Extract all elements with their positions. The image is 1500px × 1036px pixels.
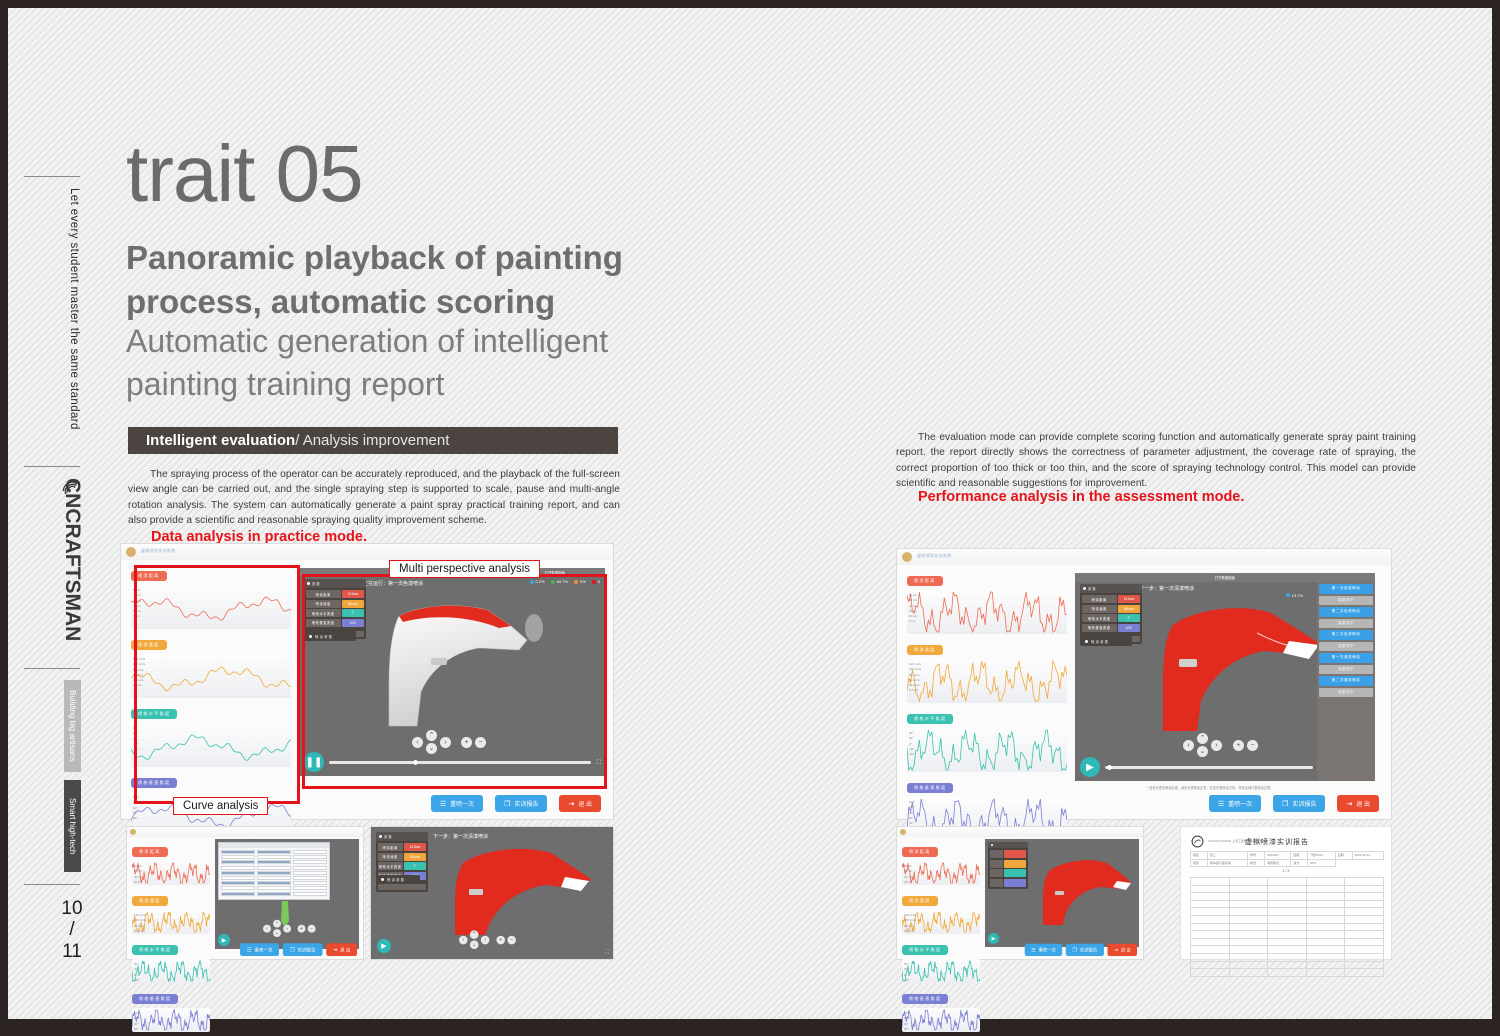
curve-y-tick: 40 cm xyxy=(904,869,912,874)
curve-plot: 60°30°0°-30°-60° xyxy=(132,959,210,983)
fender-coverage-model[interactable] xyxy=(433,841,605,937)
table-row xyxy=(1191,931,1384,939)
curve-block: 喷涂距离 50 cm40 cm30 cm20 cm10 cm0 cm xyxy=(907,569,1067,634)
nav-right-button[interactable]: › xyxy=(481,935,490,944)
curve-y-tick: 80 cm/s xyxy=(909,673,921,678)
parameter-row: 喷涂距离19.8cm xyxy=(378,843,426,851)
parameter-value xyxy=(1004,869,1026,877)
parameter-table-overlay[interactable] xyxy=(218,842,330,900)
table-cell xyxy=(1306,969,1345,977)
table-cell xyxy=(1306,961,1345,969)
footer-blue-button[interactable]: ❐实训报告 xyxy=(1273,795,1325,812)
parameter-key: 喷枪垂直角度 xyxy=(1082,624,1117,632)
table-row xyxy=(1191,878,1384,886)
thumb-titlebar xyxy=(897,827,1143,837)
table-cell: 2021001 xyxy=(1265,852,1291,860)
table-cell xyxy=(1268,969,1307,977)
step-button[interactable]: 涂层闪干 xyxy=(1319,665,1373,675)
nav-right-button[interactable]: › xyxy=(1211,740,1222,751)
sidebar-tagline: Let every student master the same standa… xyxy=(68,188,80,430)
curve-y-tick: 110° xyxy=(909,805,915,810)
footer-button-label: 实训报告 xyxy=(297,946,315,953)
table-cell xyxy=(1229,900,1268,908)
table-cell: 日期 xyxy=(1335,852,1352,860)
sidebar-tag-building: Building big artisans xyxy=(64,680,81,772)
fullscreen-icon[interactable]: ⛶ xyxy=(605,949,609,955)
parameter-key: 喷涂速度 xyxy=(378,853,403,861)
table-row xyxy=(1191,961,1384,969)
viewport-status: 下一步：第一次清漆喷涂 xyxy=(1139,585,1194,592)
sidebar-divider xyxy=(24,668,80,669)
curve-plot: 50 cm40 cm30 cm20 cm10 cm0 cm xyxy=(132,861,210,885)
step-button[interactable]: 涂层闪干 xyxy=(1319,619,1373,629)
table-cell xyxy=(1306,915,1345,923)
parameter-row: 喷枪垂直角度103° xyxy=(1082,624,1140,632)
curve-y-axis: 60°30°0°-30°-60° xyxy=(904,962,910,983)
table-cell xyxy=(1191,893,1230,901)
footer-button-label: 实训报告 xyxy=(1080,947,1097,953)
curve-section-label: 喷涂距离 xyxy=(902,847,938,857)
parameter-key xyxy=(990,879,1003,887)
table-cell: 轿车翼子板喷涂 xyxy=(1207,859,1247,867)
table-cell xyxy=(1268,908,1307,916)
overlay-cell xyxy=(257,871,291,875)
footer-button-label: 重喷一次 xyxy=(254,946,272,953)
table-cell: 班级 xyxy=(1291,852,1308,860)
table-cell xyxy=(1191,961,1230,969)
curve-section-label: 喷枪垂直角度 xyxy=(132,994,178,1004)
report-icon: ❐ xyxy=(1072,947,1077,953)
overlay-cell xyxy=(221,886,255,890)
multi-perspective-highlight xyxy=(302,574,607,789)
overlay-cell xyxy=(221,871,255,875)
overlay-cell xyxy=(221,892,255,896)
table-cell xyxy=(1229,969,1268,977)
page-title: Panoramic playback of painting process, … xyxy=(126,236,706,324)
curve-block: 喷枪垂直角度 120°110°90°60°40° xyxy=(902,987,980,1032)
table-cell xyxy=(1229,885,1268,893)
table-cell: 考核模式 xyxy=(1265,859,1291,867)
table-cell xyxy=(1306,938,1345,946)
footer-button-label: 退 出 xyxy=(1121,947,1131,953)
parameter-panel-title: 参数 xyxy=(384,834,393,839)
parameter-value: 2° xyxy=(404,862,426,870)
table-cell xyxy=(1229,893,1268,901)
table-cell xyxy=(1268,953,1307,961)
report-detail-grid xyxy=(1190,877,1384,977)
parameter-key: 喷涂距离 xyxy=(1082,595,1117,603)
footer-blue-button[interactable]: ☰重喷一次 xyxy=(1209,795,1261,812)
table-row xyxy=(1191,969,1384,977)
curve-block: 喷涂速度 120 cm/s100 cm/s80 cm/s60 cm/s40 cm… xyxy=(907,638,1067,703)
curve-plot: 120 cm/s100 cm/s80 cm/s60 cm/s40 cm/s0 c… xyxy=(907,659,1067,703)
footer-button-bar: ☰重喷一次❐实训报告⇥退 出 xyxy=(1209,795,1379,812)
page-total: 11 xyxy=(52,941,92,962)
table-cell xyxy=(1229,953,1268,961)
exit-icon: ⇥ xyxy=(1114,947,1118,953)
table-cell: 总分 xyxy=(1291,859,1308,867)
thumb-nav-controls[interactable]: ‹ ⌃ ⌄ › + − xyxy=(263,920,316,937)
thumb-status-panel[interactable]: 喷涂参数 xyxy=(376,875,420,884)
spray-status-label: 喷涂参数 xyxy=(1091,639,1109,644)
report-title: 虚拟喷漆实训报告 xyxy=(1245,837,1309,847)
footer-red-button[interactable]: ⇥退 出 xyxy=(1337,795,1379,812)
curve-analysis-column: 喷涂距离 50 cm40 cm30 cm20 cm10 cm0 cm喷涂速度 1… xyxy=(907,569,1067,845)
curve-y-tick: 30 cm xyxy=(904,875,912,880)
table-cell: 汽修2101 xyxy=(1308,852,1335,860)
footer-button-label: 退 出 xyxy=(340,946,350,953)
table-cell xyxy=(1268,961,1307,969)
overlay-cell xyxy=(293,866,327,870)
curve-plot: 50 cm40 cm30 cm20 cm10 cm0 cm xyxy=(907,590,1067,634)
assessment-viewport[interactable]: 打开数据面板 下一步：第一次清漆喷涂 13.7% 参数 喷涂距离19.8cm喷涂… xyxy=(1075,573,1375,781)
table-cell xyxy=(1191,969,1230,977)
overlay-cell xyxy=(293,886,327,890)
table-cell xyxy=(1191,953,1230,961)
overlay-column xyxy=(257,850,291,896)
overlay-column xyxy=(221,850,255,896)
curve-section-label: 喷涂距离 xyxy=(132,847,168,857)
table-cell xyxy=(1345,908,1384,916)
curve-y-axis: 60°30°0°-30°-60° xyxy=(134,962,140,983)
parameter-key xyxy=(990,850,1003,858)
footer-red-button[interactable]: ⇥退 出 xyxy=(1107,944,1137,956)
nav-down-button[interactable]: ⌄ xyxy=(273,929,281,937)
curve-y-tick: 40 cm xyxy=(134,869,142,874)
overlay-cell xyxy=(293,855,327,859)
sidebar-brand: CNCRAFTSMAN xyxy=(60,478,84,641)
table-cell xyxy=(1191,946,1230,954)
parameter-row: 喷枪水平角度2° xyxy=(378,862,426,870)
table-cell: 项目 xyxy=(1191,859,1208,867)
curve-section-label: 喷涂速度 xyxy=(907,645,943,655)
parameter-row xyxy=(990,869,1026,877)
parameter-value: 19.8cm xyxy=(404,843,426,851)
curve-block: 喷枪垂直角度 120°110°90°60°40° xyxy=(132,987,210,1032)
overlay-cell xyxy=(257,892,291,896)
parameter-key: 喷枪水平角度 xyxy=(378,862,403,870)
right-body-text: The evaluation mode can provide complete… xyxy=(896,430,1416,491)
overlay-cell xyxy=(221,866,255,870)
table-cell xyxy=(1191,931,1230,939)
table-row: 姓名张三学号2021001班级汽修2101日期2024-03-12 xyxy=(1191,852,1384,860)
footer-red-button[interactable]: ⇥退 出 xyxy=(326,943,357,956)
footer-red-button[interactable]: ⇥退 出 xyxy=(559,795,601,812)
section-bar-bold: Intelligent evaluation xyxy=(146,432,295,449)
table-row xyxy=(1191,946,1384,954)
table-cell xyxy=(1306,931,1345,939)
parameter-rows: 喷涂距离19.8cm喷涂速度60cm/s喷枪水平角度2°喷枪垂直角度103° xyxy=(1080,593,1142,634)
list-icon: ☰ xyxy=(440,800,446,808)
exit-icon: ⇥ xyxy=(1346,800,1352,808)
assessment-thumb-curves: 喷涂距离 50 cm40 cm30 cm20 cm10 cm0 cm喷涂速度 1… xyxy=(896,826,1144,960)
table-cell xyxy=(1268,946,1307,954)
footer-button-label: 重喷一次 xyxy=(1038,947,1055,953)
overlay-cell xyxy=(221,855,255,859)
viewport-nav-controls[interactable]: ‹ ⌃ ⌄ › + − xyxy=(1183,733,1258,757)
overlay-cell xyxy=(293,871,327,875)
thumb-footer-buttons: ☰重喷一次❐实训报告⇥退 出 xyxy=(1025,944,1137,956)
step-button[interactable]: 第二次色漆喷涂 xyxy=(1319,607,1373,617)
parameter-row: 喷涂距离19.8cm xyxy=(1082,595,1140,603)
curve-block: 喷涂距离 50 cm40 cm30 cm20 cm10 cm0 cm xyxy=(902,840,980,885)
curve-y-axis: 50 cm40 cm30 cm20 cm10 cm0 cm xyxy=(909,593,917,625)
curve-y-tick: 100 cm/s xyxy=(134,918,146,923)
sidebar-divider xyxy=(24,884,80,885)
curve-section-label: 喷枪垂直角度 xyxy=(907,783,953,793)
sidebar-tag-smart: Smart high-tech xyxy=(64,780,81,872)
table-cell xyxy=(1345,953,1384,961)
table-cell: 张三 xyxy=(1207,852,1247,860)
thumb-parameter-panel[interactable] xyxy=(988,842,1028,889)
table-cell xyxy=(1229,961,1268,969)
curve-y-axis: 120°110°90°60°40° xyxy=(909,800,915,826)
multi-perspective-annotation: Multi perspective analysis xyxy=(389,560,540,578)
table-cell xyxy=(1345,893,1384,901)
list-icon: ☰ xyxy=(1031,947,1036,953)
step-button[interactable]: 第三次色漆喷涂 xyxy=(1319,630,1373,640)
thumb-viewport[interactable]: ▶ xyxy=(985,839,1139,947)
table-cell xyxy=(1345,878,1384,886)
curve-section-label: 喷枪水平角度 xyxy=(907,714,953,724)
nav-left-button[interactable]: ‹ xyxy=(459,935,468,944)
curve-y-tick: 40° xyxy=(133,816,139,821)
curve-section-label: 喷涂速度 xyxy=(902,896,938,906)
table-cell xyxy=(1191,878,1230,886)
timeline-track[interactable] xyxy=(1105,766,1313,769)
thumb2-nav-controls[interactable]: ‹ ⌃ ⌄ › + − xyxy=(459,930,516,949)
thumb-footer-buttons: ☰重喷一次❐实训报告⇥退 出 xyxy=(240,943,357,956)
thumb-curve-column: 喷涂距离 50 cm40 cm30 cm20 cm10 cm0 cm喷涂速度 1… xyxy=(902,840,980,1036)
curve-y-axis: 120 cm/s100 cm/s80 cm/s60 cm/s40 cm/s0 c… xyxy=(909,662,921,694)
table-cell xyxy=(1268,893,1307,901)
fender-coverage-model[interactable] xyxy=(1137,597,1343,743)
curve-y-axis: 120°110°90°60°40° xyxy=(134,1011,140,1032)
parameter-row xyxy=(990,850,1026,858)
curve-y-tick: -60° xyxy=(909,752,915,757)
nav-left-button[interactable]: ‹ xyxy=(1183,740,1194,751)
table-cell xyxy=(1306,885,1345,893)
sidebar-divider xyxy=(24,466,80,467)
nav-down-button[interactable]: ⌄ xyxy=(1197,746,1208,757)
parameter-row: 喷枪水平角度2° xyxy=(1082,614,1140,622)
thumb-curve-column: 喷涂距离 50 cm40 cm30 cm20 cm10 cm0 cm喷涂速度 1… xyxy=(132,840,210,1036)
parameter-rows xyxy=(988,848,1028,889)
app-titlebar: 虚拟喷涂实训系统 xyxy=(897,549,1391,565)
table-cell xyxy=(1345,946,1384,954)
report-icon: ❐ xyxy=(504,800,510,808)
curve-y-tick: 80 cm/s xyxy=(134,924,146,929)
table-cell xyxy=(1191,900,1230,908)
table-cell xyxy=(1268,900,1307,908)
table-cell xyxy=(1345,923,1384,931)
curve-y-tick: 30 cm xyxy=(134,875,142,880)
curve-y-axis: 120°110°90°60°40° xyxy=(904,1011,910,1032)
assessment-mode-screenshot: 虚拟喷涂实训系统 喷涂距离 50 cm40 cm30 cm20 cm10 cm0… xyxy=(896,548,1392,820)
zoom-out-button[interactable]: − xyxy=(308,924,316,932)
fender-coverage-model[interactable] xyxy=(1031,855,1135,927)
overlay-cell xyxy=(257,881,291,885)
table-cell xyxy=(1306,908,1345,916)
report-table: 姓名张三学号2021001班级汽修2101日期2024-03-12项目轿车翼子板… xyxy=(1190,851,1384,867)
zoom-in-button[interactable]: + xyxy=(298,924,306,932)
overlay-cell xyxy=(293,860,327,864)
footer-blue-button[interactable]: ☰重喷一次 xyxy=(431,795,483,812)
page-separator: / xyxy=(52,919,92,940)
table-cell xyxy=(1268,878,1307,886)
record-dot-icon xyxy=(991,844,993,846)
parameter-panel-footer xyxy=(378,884,426,890)
thumb-titlebar xyxy=(127,827,363,837)
thumb-status: 下一步：第一次清漆喷涂 xyxy=(433,833,488,840)
overlay-cell xyxy=(257,866,291,870)
step-button[interactable]: 涂层闪干 xyxy=(1319,688,1373,698)
parameter-panel-header: 参数 xyxy=(376,832,428,841)
curve-section-label: 喷涂距离 xyxy=(907,576,943,586)
curve-block: 喷涂速度 120 cm/s100 cm/s80 cm/s60 cm/s40 cm… xyxy=(132,889,210,934)
parameter-key: 喷涂速度 xyxy=(1082,605,1117,613)
table-cell xyxy=(1345,900,1384,908)
app-logo-text: 虚拟喷涂实训系统 xyxy=(141,548,175,554)
app-logo-text: 虚拟喷涂实训系统 xyxy=(917,553,951,559)
footer-blue-button[interactable]: ☰重喷一次 xyxy=(1025,944,1063,956)
parameter-panel-header: 参数 xyxy=(1080,584,1142,593)
table-cell xyxy=(1306,878,1345,886)
table-row: 项目轿车翼子板喷涂模式考核模式总分86.5 xyxy=(1191,859,1384,867)
timeline-thumb[interactable] xyxy=(1107,765,1112,770)
parameter-row: 喷涂速度60cm/s xyxy=(1082,605,1140,613)
viewport-topbar-title[interactable]: 打开数据面板 xyxy=(1215,575,1235,580)
curve-section-label: 喷枪水平角度 xyxy=(902,945,948,955)
curve-plot: 120°110°90°60°40° xyxy=(902,1008,980,1032)
zoom-out-button[interactable]: − xyxy=(507,935,516,944)
curve-block: 喷涂速度 120 cm/s100 cm/s80 cm/s60 cm/s40 cm… xyxy=(902,889,980,934)
curve-block: 喷枪水平角度 60°30°0°-30°-60° xyxy=(132,938,210,983)
table-cell xyxy=(1306,946,1345,954)
zoom-in-button[interactable]: + xyxy=(496,935,505,944)
table-cell: 86.5 xyxy=(1308,859,1335,867)
spray-status-label: 喷涂参数 xyxy=(387,877,405,882)
curve-plot: 120 cm/s100 cm/s80 cm/s60 cm/s40 cm/s0 c… xyxy=(132,910,210,934)
footer-button-bar: ☰重喷一次❐实训报告⇥退 出 xyxy=(431,795,601,812)
footer-blue-button[interactable]: ☰重喷一次 xyxy=(240,943,279,956)
step-button[interactable]: 第二次清漆喷涂 xyxy=(1319,676,1373,686)
nav-right-button[interactable]: › xyxy=(283,924,291,932)
overlay-cell xyxy=(221,876,255,880)
viewport-footnote: * 蓝色代表未喷涂区域，绿色代表喷涂正常，红色代表喷涂过厚，黄色区域代表喷涂过薄… xyxy=(1147,785,1273,790)
step-button[interactable]: 涂层闪干 xyxy=(1319,596,1373,606)
exit-icon: ⇥ xyxy=(568,800,574,808)
overlay-cell xyxy=(293,892,327,896)
footer-blue-button[interactable]: ❐实训报告 xyxy=(495,795,547,812)
trait-label: trait 05 xyxy=(126,136,363,212)
table-cell xyxy=(1306,953,1345,961)
footer-button-label: 重喷一次 xyxy=(1228,799,1252,808)
footer-blue-button[interactable]: ❐实训报告 xyxy=(1066,944,1104,956)
practice-thumb-coverage: 参数 喷涂距离19.8cm喷涂速度60cm/s喷枪水平角度2°喷枪垂直角度103… xyxy=(370,826,614,960)
table-row xyxy=(1191,915,1384,923)
spray-status-panel[interactable]: 喷涂参数 xyxy=(1080,636,1132,646)
play-button[interactable]: ▶ xyxy=(218,934,230,946)
nav-down-button[interactable]: ⌄ xyxy=(470,940,479,949)
play-button[interactable]: ▶ xyxy=(1080,757,1100,777)
overlay-cell xyxy=(257,886,291,890)
parameter-panel-title: 参数 xyxy=(1088,586,1097,591)
overlay-cell xyxy=(257,860,291,864)
curve-y-tick: 30 cm xyxy=(909,604,917,609)
curve-y-tick: 0 cm xyxy=(909,619,917,624)
table-cell xyxy=(1345,938,1384,946)
report-icon: ❐ xyxy=(1282,800,1288,808)
page-subtitle: Automatic generation of intelligent pain… xyxy=(126,320,726,405)
practice-thumb-parameters: 喷涂距离 50 cm40 cm30 cm20 cm10 cm0 cm喷涂速度 1… xyxy=(126,826,364,960)
curve-y-tick: 80 cm/s xyxy=(904,924,916,929)
table-cell xyxy=(1268,915,1307,923)
sidebar: Let every student master the same standa… xyxy=(16,8,88,1019)
parameter-value xyxy=(1004,850,1026,858)
overlay-cell xyxy=(221,860,255,864)
section-bar-light: / Analysis improvement xyxy=(295,432,449,449)
right-caption: Performance analysis in the assessment m… xyxy=(918,489,1244,505)
step-button[interactable]: 第一次清漆喷涂 xyxy=(1319,653,1373,663)
curve-plot: 50 cm40 cm30 cm20 cm10 cm0 cm xyxy=(902,861,980,885)
nav-up-button[interactable]: ⌃ xyxy=(1197,733,1208,744)
nav-up-button[interactable]: ⌃ xyxy=(470,930,479,939)
table-cell xyxy=(1191,885,1230,893)
list-icon: ☰ xyxy=(1218,800,1224,808)
parameter-panel[interactable]: 参数 喷涂距离19.8cm喷涂速度60cm/s喷枪水平角度2°喷枪垂直角度103… xyxy=(1080,584,1142,644)
curve-y-tick: 100 cm/s xyxy=(909,667,921,672)
footer-blue-button[interactable]: ❐实训报告 xyxy=(283,943,322,956)
play-button[interactable]: ▶ xyxy=(377,939,391,953)
thumb-viewport[interactable]: ‹ ⌃ ⌄ › + − ▶ xyxy=(215,839,359,949)
table-row xyxy=(1191,893,1384,901)
parameter-key xyxy=(990,860,1003,868)
parameter-key: 喷涂距离 xyxy=(378,843,403,851)
status-dot-icon xyxy=(381,878,384,881)
record-dot-icon xyxy=(1083,587,1086,590)
step-button[interactable]: 第一次色漆喷涂 xyxy=(1319,584,1373,594)
step-list[interactable]: 第一次色漆喷涂涂层闪干第二次色漆喷涂涂层闪干第三次色漆喷涂涂层闪干第一次清漆喷涂… xyxy=(1317,582,1375,781)
step-button[interactable]: 涂层闪干 xyxy=(1319,642,1373,652)
table-cell xyxy=(1345,885,1384,893)
app-logo-icon xyxy=(900,829,906,835)
table-cell xyxy=(1306,893,1345,901)
table-cell xyxy=(1268,923,1307,931)
nav-up-button[interactable]: ⌃ xyxy=(273,920,281,928)
zoom-in-button[interactable]: + xyxy=(1233,740,1244,751)
footer-button-label: 退 出 xyxy=(1356,799,1370,808)
table-cell xyxy=(1345,969,1384,977)
curve-block: 喷枪水平角度 60°30°0°-30°-60° xyxy=(902,938,980,983)
nav-left-button[interactable]: ‹ xyxy=(263,924,271,932)
play-button[interactable]: ▶ xyxy=(988,933,999,944)
curve-y-axis: 60°30°0°-30°-60° xyxy=(909,731,915,757)
table-cell xyxy=(1306,923,1345,931)
table-cell: 模式 xyxy=(1248,859,1265,867)
table-cell: 姓名 xyxy=(1191,852,1208,860)
zoom-out-button[interactable]: − xyxy=(1247,740,1258,751)
overlay-cell xyxy=(257,855,291,859)
status-dot-icon xyxy=(1085,640,1088,643)
curve-y-tick: 110° xyxy=(134,1016,140,1021)
record-dot-icon xyxy=(379,835,382,838)
table-cell xyxy=(1229,908,1268,916)
parameter-key xyxy=(990,869,1003,877)
table-cell xyxy=(1229,878,1268,886)
curve-plot: 120 cm/s100 cm/s80 cm/s60 cm/s40 cm/s0 c… xyxy=(902,910,980,934)
parameter-row: 喷涂速度60cm/s xyxy=(378,853,426,861)
